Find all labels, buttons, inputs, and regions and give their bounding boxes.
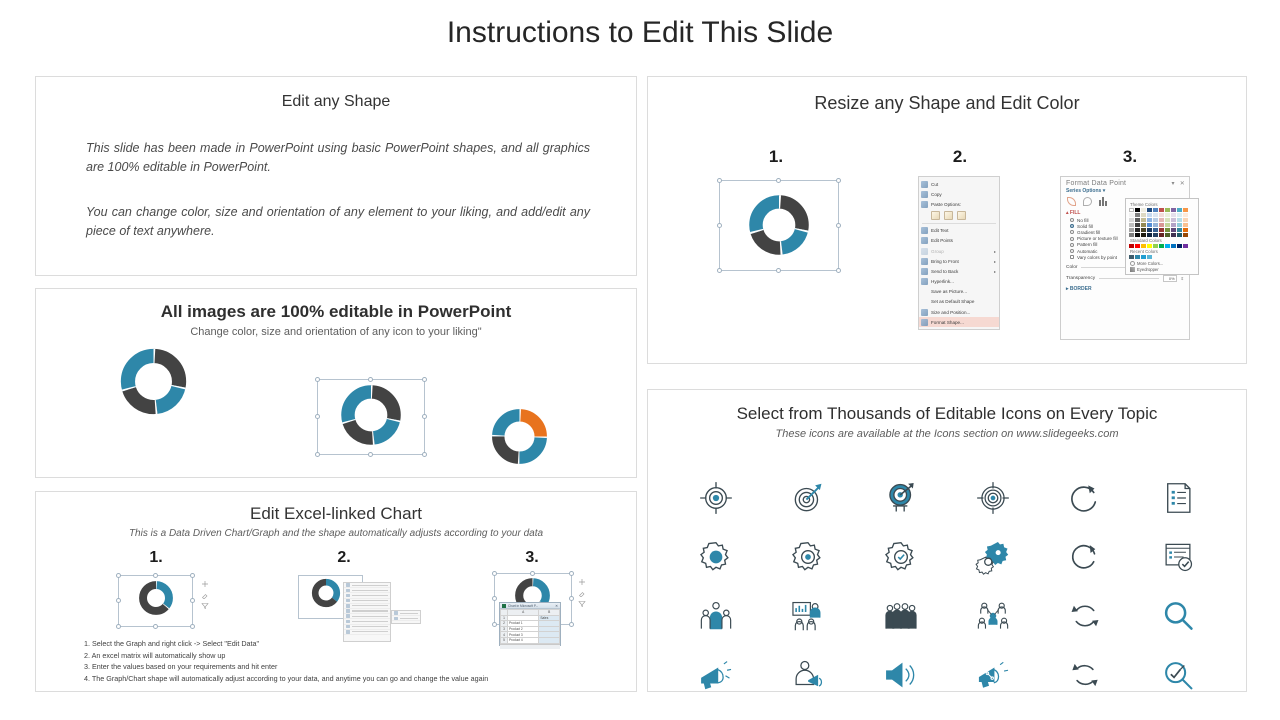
theme-swatch[interactable] — [1153, 233, 1158, 237]
team-group-icon[interactable] — [880, 595, 922, 637]
radio-button-selected[interactable] — [1070, 224, 1074, 228]
group-icon — [921, 248, 928, 255]
standard-swatch[interactable] — [1171, 244, 1176, 248]
resize-handle-top-right[interactable] — [569, 571, 574, 576]
menu-label-placeholder — [352, 610, 389, 611]
resize-handle-top-left[interactable] — [116, 573, 121, 578]
context-menu-label: Paste Options: — [931, 202, 961, 207]
resize-handle-top-left[interactable] — [315, 377, 320, 382]
menu-icon — [346, 594, 350, 598]
context-menu-item-hyperlink[interactable]: Hyperlink... — [919, 277, 999, 287]
resize-step1-donut[interactable] — [747, 193, 811, 257]
cycle-arrows-icon[interactable] — [1064, 654, 1106, 696]
resize-handle-top-left[interactable] — [492, 571, 497, 576]
close-icon[interactable]: ✕ — [1180, 180, 1185, 187]
resize-handle-top-middle[interactable] — [530, 571, 535, 576]
menu-label-placeholder — [352, 605, 389, 606]
menu-icon — [394, 617, 398, 621]
panel-resize-title: Resize any Shape and Edit Color — [648, 93, 1246, 114]
color-label: Color — [1066, 265, 1077, 270]
gear-solid-icon[interactable] — [695, 536, 737, 578]
resize-handle-middle-left[interactable] — [315, 414, 320, 419]
powerpoint-context-menu[interactable]: Cut Copy Paste Options: Edit Text — [918, 176, 1000, 330]
resize-handle-bottom-left[interactable] — [116, 624, 121, 629]
resize-step-number-1: 1. — [756, 147, 796, 167]
close-icon[interactable]: ✕ — [555, 604, 558, 608]
theme-swatch[interactable] — [1159, 213, 1164, 217]
expand-icon[interactable]: ▴ — [1066, 210, 1069, 216]
excel-instruction-1: 1. Select the Graph and right click -> S… — [84, 638, 624, 650]
resize-handle-top-middle[interactable] — [153, 573, 158, 578]
theme-swatch[interactable] — [1147, 233, 1152, 237]
checkbox[interactable] — [1070, 255, 1074, 259]
edit-shape-paragraph-1: This slide has been made in PowerPoint u… — [86, 139, 590, 177]
theme-swatch[interactable] — [1165, 233, 1170, 237]
resize-handle-bottom-middle[interactable] — [368, 452, 373, 457]
theme-swatch[interactable] — [1135, 208, 1140, 212]
target-stand-icon[interactable] — [880, 477, 922, 519]
theme-swatch[interactable] — [1165, 228, 1170, 232]
theme-swatch[interactable] — [1183, 223, 1188, 227]
excel-instruction-3: 3. Enter the values based on your requir… — [84, 661, 624, 673]
excel-step-number-3: 3. — [512, 549, 552, 567]
excel-step1-side-controls — [199, 580, 211, 620]
theme-swatch[interactable] — [1129, 213, 1134, 217]
resize-step-number-2: 2. — [940, 147, 980, 167]
chevron-right-icon: ▸ — [994, 269, 996, 274]
panel-icons-subtitle: These icons are available at the Icons s… — [648, 428, 1246, 440]
theme-swatch[interactable] — [1135, 233, 1140, 237]
menu-icon — [346, 620, 350, 624]
theme-swatch[interactable] — [1153, 213, 1158, 217]
resize-handle-bottom-right[interactable] — [422, 452, 427, 457]
context-menu-label: Send to Back — [931, 269, 958, 274]
series-options-tab-icon[interactable] — [1099, 197, 1108, 206]
resize-handle-top-right[interactable] — [190, 573, 195, 578]
standard-swatch[interactable] — [1129, 244, 1134, 248]
resize-handle-bottom-left[interactable] — [315, 452, 320, 457]
panel-all-images-editable: All images are 100% editable in PowerPoi… — [35, 288, 637, 478]
recent-swatch[interactable] — [1147, 255, 1152, 259]
panel-icons-title: Select from Thousands of Editable Icons … — [648, 404, 1246, 424]
recent-colors-label: Recent Colors — [1129, 248, 1195, 255]
excel-instructions-list: 1. Select the Graph and right click -> S… — [84, 638, 624, 684]
context-menu-item-copy[interactable]: Copy — [919, 189, 999, 199]
radio-button[interactable] — [1070, 243, 1074, 247]
theme-swatch[interactable] — [1165, 223, 1170, 227]
spinner-icon[interactable]: ⇳ — [1181, 276, 1184, 281]
theme-swatch[interactable] — [1153, 218, 1158, 222]
excel-step1-donut[interactable] — [138, 580, 174, 616]
recent-swatch[interactable] — [1141, 255, 1146, 259]
standard-colors-grid[interactable] — [1129, 244, 1195, 248]
theme-swatch[interactable] — [1147, 223, 1152, 227]
theme-swatch[interactable] — [1177, 208, 1182, 212]
panel-excel-subtitle: This is a Data Driven Chart/Graph and th… — [36, 528, 636, 539]
target-radar-icon[interactable] — [972, 477, 1014, 519]
theme-swatch[interactable] — [1129, 223, 1134, 227]
menu-label-placeholder — [352, 621, 389, 622]
resize-handle-bottom-left[interactable] — [492, 622, 497, 627]
standard-swatch[interactable] — [1141, 244, 1146, 248]
brush-icon[interactable] — [201, 591, 209, 599]
panel-resize-shape-edit-color: Resize any Shape and Edit Color 1. 2. 3. — [647, 76, 1247, 364]
dropdown-icon[interactable]: ▾ — [1172, 180, 1175, 187]
context-menu-item-set-default-shape[interactable]: Set as Default Shape — [919, 297, 999, 307]
theme-swatch[interactable] — [1153, 228, 1158, 232]
edit-shape-paragraph-2: You can change color, size and orientati… — [86, 203, 590, 241]
megaphone-percent-icon[interactable] — [972, 654, 1014, 696]
magnifier-icon[interactable] — [1157, 595, 1199, 637]
size-position-icon — [921, 309, 928, 316]
resize-handle-middle-right[interactable] — [836, 223, 841, 228]
theme-colors-flyout[interactable]: Theme Colors Standard Colors — [1125, 198, 1199, 275]
theme-swatch[interactable] — [1141, 208, 1146, 212]
context-menu-label: Cut — [931, 182, 938, 187]
menu-divider — [922, 223, 996, 224]
target-dart-icon[interactable] — [787, 477, 829, 519]
resize-handle-bottom-middle[interactable] — [153, 624, 158, 629]
theme-swatch[interactable] — [1147, 208, 1152, 212]
resize-handle-top-right[interactable] — [422, 377, 427, 382]
color-wheel-icon — [1130, 261, 1135, 266]
excel-instruction-4: 4. The Graph/Chart shape will automatica… — [84, 673, 624, 685]
resize-handle-top-middle[interactable] — [368, 377, 373, 382]
menu-icon — [346, 625, 350, 629]
menu-icon — [346, 599, 350, 603]
menu-label-placeholder — [352, 616, 389, 617]
resize-handle-bottom-left[interactable] — [717, 268, 722, 273]
radio-button[interactable] — [1070, 249, 1074, 253]
scissors-icon — [921, 181, 928, 188]
standard-swatch[interactable] — [1183, 244, 1188, 248]
context-menu-item-paste-options[interactable]: Paste Options: — [919, 199, 999, 209]
checklist-document-icon[interactable] — [1157, 477, 1199, 519]
context-menu-item-cut[interactable]: Cut — [919, 179, 999, 189]
standard-swatch[interactable] — [1165, 244, 1170, 248]
standard-swatch[interactable] — [1147, 244, 1152, 248]
resize-handle-top-middle[interactable] — [776, 178, 781, 183]
person-megaphone-icon[interactable] — [787, 654, 829, 696]
theme-swatch[interactable] — [1159, 223, 1164, 227]
format-pane-header: Format Data Point ▾ ✕ — [1061, 177, 1189, 188]
theme-swatch[interactable] — [1147, 213, 1152, 217]
context-menu-label: Edit Text — [931, 228, 949, 233]
radio-button[interactable] — [1070, 230, 1074, 234]
icon-grid — [670, 468, 1224, 704]
resize-handle-middle-left[interactable] — [717, 223, 722, 228]
team-leader-icon[interactable] — [695, 595, 737, 637]
resize-handle-top-left[interactable] — [717, 178, 722, 183]
context-menu-label: Group — [931, 249, 944, 254]
theme-swatch[interactable] — [1165, 208, 1170, 212]
context-menu-label: Size and Position... — [931, 310, 970, 315]
context-menu-label: Set as Default Shape — [931, 299, 974, 304]
menu-icon — [346, 583, 350, 587]
send-to-back-icon — [921, 268, 928, 275]
theme-swatch[interactable] — [1171, 233, 1176, 237]
panel-edit-any-shape-title: Edit any Shape — [36, 93, 636, 111]
excel-step2-submenu[interactable] — [391, 610, 421, 624]
excel-app-icon — [502, 604, 506, 608]
radio-button[interactable] — [1070, 218, 1074, 222]
panel-all-images-subtitle: Change color, size and orientation of an… — [36, 326, 636, 338]
resize-handle-bottom-right[interactable] — [569, 622, 574, 627]
context-menu-item-bring-to-front[interactable]: Bring to Front ▸ — [919, 256, 999, 266]
context-menu-item-save-as-picture[interactable]: Save as Picture... — [919, 287, 999, 297]
theme-swatch[interactable] — [1183, 213, 1188, 217]
format-pane-title: Format Data Point — [1066, 180, 1126, 187]
donut-teal-grey-selected[interactable] — [339, 383, 403, 447]
theme-swatch[interactable] — [1183, 233, 1188, 237]
paste-text-only-icon[interactable] — [957, 211, 966, 220]
panel-excel-title: Edit Excel-linked Chart — [36, 504, 636, 524]
excel-step-number-2: 2. — [324, 549, 364, 567]
theme-swatch[interactable] — [1153, 223, 1158, 227]
context-menu-item-group: Group ▸ — [919, 246, 999, 256]
menu-icon — [346, 609, 350, 613]
brush-icon[interactable] — [578, 589, 586, 597]
hyperlink-icon — [921, 278, 928, 285]
document-approved-icon[interactable] — [1157, 536, 1199, 578]
theme-swatch[interactable] — [1159, 218, 1164, 222]
gear-dot-icon[interactable] — [787, 536, 829, 578]
menu-icon — [394, 611, 398, 615]
transparency-value[interactable]: 0% — [1163, 275, 1177, 282]
context-menu-label: Edit Points — [931, 238, 953, 243]
menu-label-placeholder — [352, 595, 389, 596]
theme-swatch[interactable] — [1183, 218, 1188, 222]
eyedropper-icon — [1130, 267, 1135, 272]
fill-line-tab-icon[interactable] — [1067, 197, 1076, 206]
team-network-icon[interactable] — [972, 595, 1014, 637]
context-menu-item-edit-points[interactable]: Edit Points — [919, 236, 999, 246]
theme-swatch[interactable] — [1153, 208, 1158, 212]
context-menu-item-size-and-position[interactable]: Size and Position... — [919, 307, 999, 317]
megaphone-icon[interactable] — [695, 654, 737, 696]
resize-handle-top-right[interactable] — [836, 178, 841, 183]
theme-swatch[interactable] — [1171, 223, 1176, 227]
speaker-announce-icon[interactable] — [880, 654, 922, 696]
effects-tab-icon[interactable] — [1083, 197, 1092, 206]
theme-swatch[interactable] — [1171, 213, 1176, 217]
theme-swatch[interactable] — [1177, 218, 1182, 222]
excel-step-number-1: 1. — [136, 549, 176, 567]
theme-swatch[interactable] — [1183, 208, 1188, 212]
sync-arrows-icon[interactable] — [1064, 595, 1106, 637]
mini-menu-row[interactable] — [344, 630, 390, 635]
excel-instruction-2: 2. An excel matrix will automatically sh… — [84, 650, 624, 662]
theme-swatch[interactable] — [1135, 228, 1140, 232]
refresh-clockwise-icon[interactable] — [1064, 477, 1106, 519]
refresh-circle-icon[interactable] — [1064, 536, 1106, 578]
radio-button[interactable] — [1070, 237, 1074, 241]
theme-swatch[interactable] — [1129, 228, 1134, 232]
resize-handle-bottom-middle[interactable] — [776, 268, 781, 273]
chevron-down-icon[interactable]: ▾ — [1103, 188, 1106, 194]
menu-label-placeholder — [352, 600, 389, 601]
theme-swatch[interactable] — [1135, 223, 1140, 227]
standard-swatch[interactable] — [1159, 244, 1164, 248]
theme-swatch[interactable] — [1171, 218, 1176, 222]
theme-swatch[interactable] — [1159, 208, 1164, 212]
theme-swatch[interactable] — [1141, 228, 1146, 232]
standard-swatch[interactable] — [1135, 244, 1140, 248]
resize-handle-middle-right[interactable] — [422, 414, 427, 419]
panel-editable-icons: Select from Thousands of Editable Icons … — [647, 389, 1247, 692]
theme-swatch[interactable] — [1171, 208, 1176, 212]
resize-handle-middle-right[interactable] — [569, 596, 574, 601]
resize-step-number-3: 3. — [1110, 147, 1150, 167]
recent-swatch[interactable] — [1135, 255, 1140, 259]
context-menu-label: Copy — [931, 192, 942, 197]
resize-handle-bottom-right[interactable] — [190, 624, 195, 629]
transparency-label: Transparency — [1066, 276, 1095, 281]
menu-label-placeholder — [352, 590, 389, 591]
menu-label-placeholder — [400, 613, 419, 614]
edit-text-icon — [921, 227, 928, 234]
theme-swatch[interactable] — [1177, 223, 1182, 227]
excel-step2-donut[interactable] — [311, 578, 341, 608]
theme-swatch[interactable] — [1129, 208, 1134, 212]
theme-swatch[interactable] — [1129, 218, 1134, 222]
theme-swatch[interactable] — [1177, 233, 1182, 237]
target-crosshair-icon[interactable] — [695, 477, 737, 519]
theme-swatch[interactable] — [1183, 228, 1188, 232]
context-menu-label: Save as Picture... — [931, 289, 967, 294]
theme-swatch[interactable] — [1129, 233, 1134, 237]
menu-icon — [346, 604, 350, 608]
slide-canvas: Instructions to Edit This Slide Edit any… — [0, 0, 1280, 720]
search-analysis-icon[interactable] — [1157, 654, 1199, 696]
theme-colors-label: Theme Colors — [1129, 201, 1195, 208]
excel-step2-context-menu[interactable] — [343, 582, 391, 642]
slider-track[interactable] — [1099, 278, 1158, 279]
theme-swatch[interactable] — [1159, 228, 1164, 232]
paste-picture-icon[interactable] — [944, 211, 953, 220]
donut-orange-teal-grey[interactable] — [490, 407, 549, 466]
context-menu-label: Hyperlink... — [931, 279, 954, 284]
eyedropper-item[interactable]: Eyedropper — [1129, 266, 1195, 273]
standard-swatch[interactable] — [1177, 244, 1182, 248]
menu-label-placeholder — [352, 626, 389, 627]
theme-swatch[interactable] — [1141, 213, 1146, 217]
standard-colors-label: Standard Colors — [1129, 237, 1195, 244]
gears-double-icon[interactable] — [972, 536, 1014, 578]
bring-to-front-icon — [921, 258, 928, 265]
theme-swatch[interactable] — [1141, 233, 1146, 237]
mini-submenu-row[interactable] — [392, 616, 420, 621]
menu-label-placeholder — [352, 631, 389, 632]
copy-icon — [921, 191, 928, 198]
collapse-icon[interactable]: ▸ — [1066, 286, 1069, 292]
context-menu-item-send-to-back[interactable]: Send to Back ▸ — [919, 266, 999, 276]
theme-swatch[interactable] — [1171, 228, 1176, 232]
theme-swatch[interactable] — [1141, 223, 1146, 227]
theme-swatch[interactable] — [1165, 213, 1170, 217]
chevron-right-icon: ▸ — [994, 259, 996, 264]
theme-swatch[interactable] — [1177, 213, 1182, 217]
menu-icon — [346, 614, 350, 618]
gear-check-icon[interactable] — [880, 536, 922, 578]
context-menu-label: Format Shape... — [931, 320, 964, 325]
paste-option-buttons[interactable] — [919, 210, 999, 222]
border-section-header[interactable]: ▸ BORDER — [1061, 283, 1189, 295]
standard-swatch[interactable] — [1153, 244, 1158, 248]
resize-handle-bottom-right[interactable] — [836, 268, 841, 273]
format-shape-icon — [921, 319, 928, 326]
panel-all-images-title: All images are 100% editable in PowerPoi… — [36, 302, 636, 322]
theme-swatch[interactable] — [1177, 228, 1182, 232]
donut-teal-grey-large[interactable] — [118, 346, 189, 417]
theme-colors-grid[interactable] — [1129, 208, 1195, 237]
excel-window-title: Chart in Microsoft P... — [508, 604, 538, 608]
presentation-team-icon[interactable] — [787, 595, 829, 637]
format-pane-window-controls[interactable]: ▾ ✕ — [1172, 180, 1185, 187]
clipboard-icon — [921, 201, 928, 208]
edit-points-icon — [921, 237, 928, 244]
recent-swatch[interactable] — [1129, 255, 1134, 259]
menu-label-placeholder — [352, 585, 389, 586]
theme-swatch[interactable] — [1135, 218, 1140, 222]
plus-icon[interactable] — [578, 578, 586, 586]
context-menu-item-format-shape[interactable]: Format Shape... — [919, 317, 999, 327]
panel-edit-excel-linked-chart: Edit Excel-linked Chart This is a Data D… — [35, 491, 637, 692]
menu-icon — [346, 630, 350, 634]
context-menu-item-edit-text[interactable]: Edit Text — [919, 226, 999, 236]
resize-handle-middle-left[interactable] — [116, 598, 121, 603]
theme-swatch[interactable] — [1135, 213, 1140, 217]
page-title: Instructions to Edit This Slide — [0, 16, 1280, 50]
plus-icon[interactable] — [201, 580, 209, 588]
resize-handle-middle-left[interactable] — [492, 596, 497, 601]
filter-icon[interactable] — [578, 600, 586, 608]
theme-swatch[interactable] — [1159, 233, 1164, 237]
filter-icon[interactable] — [201, 602, 209, 610]
menu-label-placeholder — [400, 618, 419, 619]
paste-keep-formatting-icon[interactable] — [931, 211, 940, 220]
excel-step3-side-controls — [576, 578, 588, 618]
resize-handle-middle-right[interactable] — [190, 598, 195, 603]
theme-swatch[interactable] — [1147, 218, 1152, 222]
panel-edit-any-shape: Edit any Shape This slide has been made … — [35, 76, 637, 276]
theme-swatch[interactable] — [1147, 228, 1152, 232]
theme-swatch[interactable] — [1141, 218, 1146, 222]
theme-swatch[interactable] — [1165, 218, 1170, 222]
menu-icon — [346, 589, 350, 593]
chevron-right-icon: ▸ — [994, 249, 996, 254]
context-menu-label: Bring to Front — [931, 259, 959, 264]
